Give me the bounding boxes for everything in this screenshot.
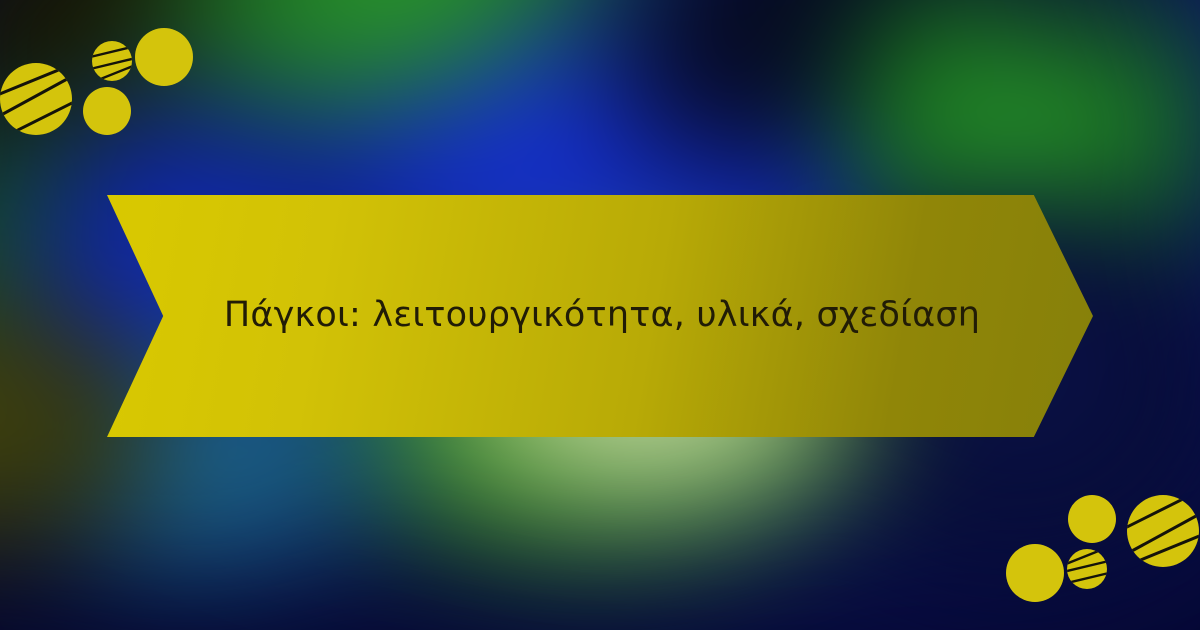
banner-title-text: Πάγκοι: λειτουργικότητα, υλικά, σχεδίαση [107, 294, 1093, 338]
title-banner: Πάγκοι: λειτουργικότητα, υλικά, σχεδίαση [107, 195, 1093, 437]
poster-canvas: Πάγκοι: λειτουργικότητα, υλικά, σχεδίαση [0, 0, 1200, 630]
